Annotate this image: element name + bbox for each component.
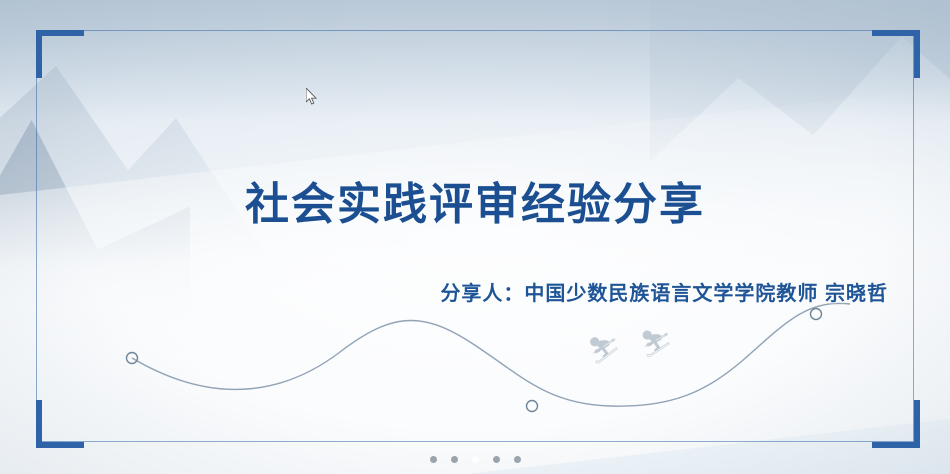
pager-dot-3[interactable] <box>472 456 479 463</box>
frame-corner-top-right <box>872 30 920 78</box>
frame-corner-bottom-left <box>36 400 84 448</box>
slide-frame-border <box>36 30 914 442</box>
pager-dot-1[interactable] <box>430 456 437 463</box>
frame-corner-bottom-right <box>872 400 920 448</box>
pager-dot-5[interactable] <box>514 456 521 463</box>
frame-corner-top-left <box>36 30 84 78</box>
mouse-pointer-icon <box>306 88 318 106</box>
presentation-slide[interactable]: ⛷ ⛷ 社会实践评审经验分享 分享人：中国少数民族语言文学学院教师 宗晓哲 <box>0 0 950 474</box>
slide-subtitle: 分享人：中国少数民族语言文学学院教师 宗晓哲 <box>440 277 888 306</box>
pager-dot-4[interactable] <box>493 456 500 463</box>
pager-dot-2[interactable] <box>451 456 458 463</box>
slide-title: 社会实践评审经验分享 <box>0 168 950 232</box>
slide-pager[interactable] <box>0 450 950 468</box>
